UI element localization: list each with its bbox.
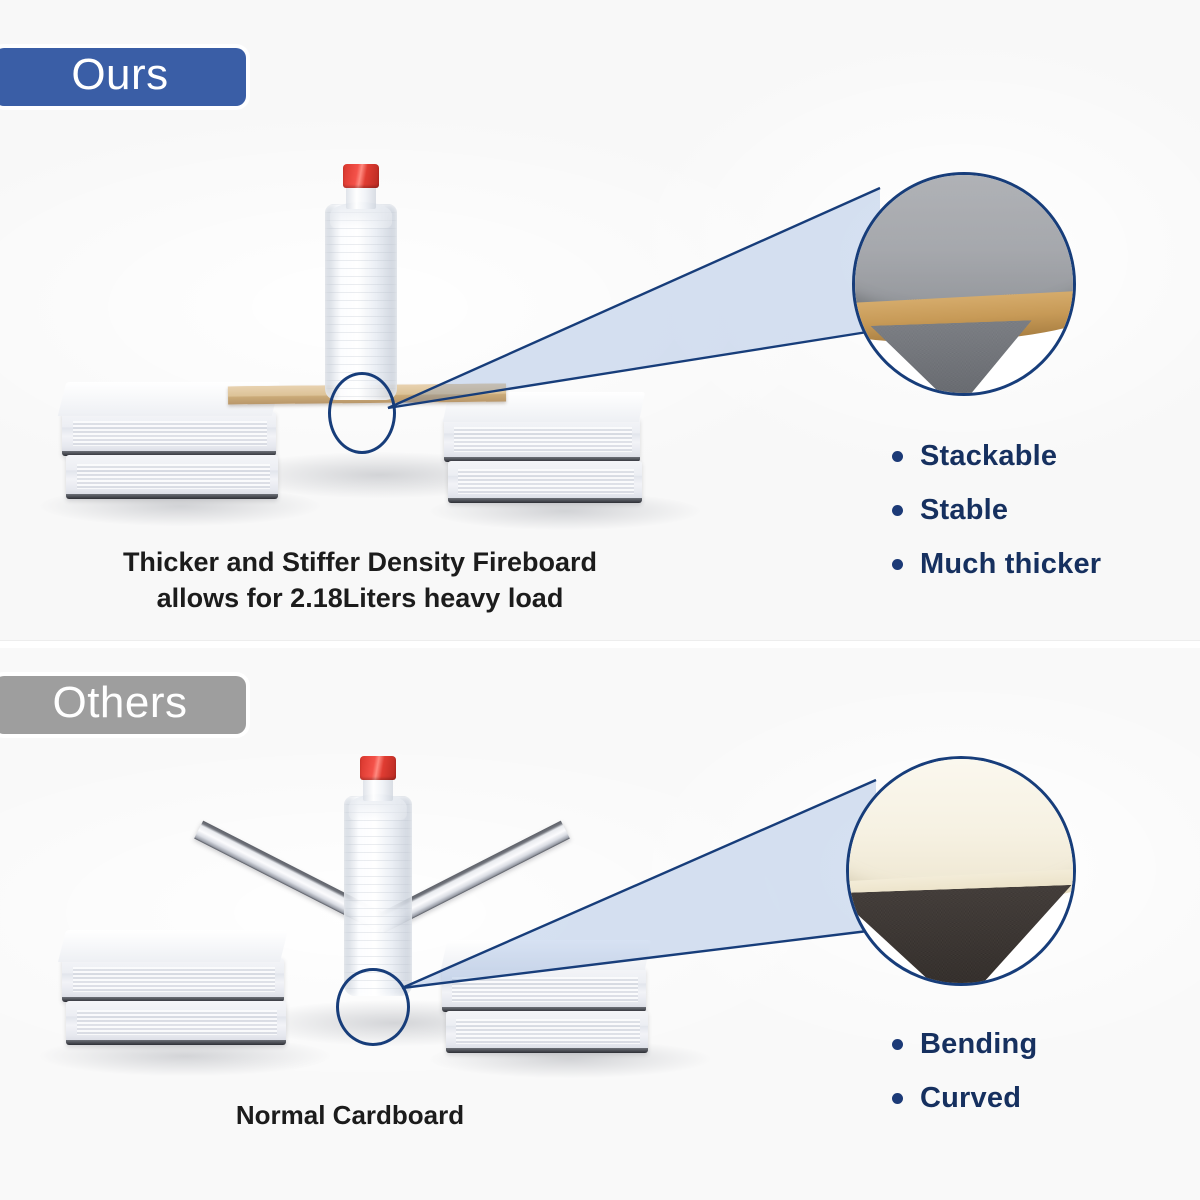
bottle-ours (325, 164, 397, 400)
feature-label-stackable: Stackable (920, 440, 1057, 473)
bottle-others (344, 756, 412, 996)
book-right-lower-others (442, 968, 646, 1012)
bullet-dot-icon (892, 505, 903, 516)
caption-ours-line1: Thicker and Stiffer Density Fireboard (60, 544, 660, 580)
feature-item-curved: Curved (892, 1082, 1037, 1115)
feature-item-bending: Bending (892, 1028, 1037, 1061)
bullet-dot-icon (892, 451, 903, 462)
caption-others: Normal Cardboard (130, 1098, 570, 1133)
bullet-dot-icon (892, 1093, 903, 1104)
book-right-lower-ours (444, 418, 640, 462)
section-ours: Ours (0, 0, 1200, 640)
infographic-canvas: Ours (0, 0, 1200, 1200)
caption-ours: Thicker and Stiffer Density Fireboard al… (60, 544, 660, 617)
book-right-topface-others (441, 940, 651, 970)
lens-inner-ours (855, 175, 1073, 393)
feature-label-bending: Bending (920, 1028, 1037, 1061)
cardboard-dark-underside (846, 885, 1075, 986)
caption-ours-line2: allows for 2.18Liters heavy load (60, 580, 660, 616)
book-left-topface-others (58, 930, 288, 962)
bottle-neck-others (363, 779, 393, 801)
feature-label-curved: Curved (920, 1082, 1021, 1115)
bottle-body-ours (325, 204, 397, 400)
badge-others: Others (0, 676, 246, 734)
feature-item-stable: Stable (892, 494, 1101, 527)
callout-ring-others (336, 968, 410, 1046)
bottle-cap-others (360, 756, 396, 780)
book-right-upper-ours (448, 461, 642, 503)
fireboard-underside (871, 320, 1035, 396)
book-left-lower-others (62, 958, 284, 1002)
book-left-upper-others (66, 1001, 286, 1045)
lens-ours (852, 172, 1076, 396)
section-others: Others (0, 648, 1200, 1200)
lens-others (846, 756, 1076, 986)
callout-ring-ours (328, 372, 396, 454)
book-left-upper-ours (66, 455, 278, 499)
badge-ours: Ours (0, 48, 246, 106)
bottle-body-others (344, 796, 412, 996)
bullet-dot-icon (892, 1039, 903, 1050)
book-right-upper-others (446, 1011, 648, 1053)
section-divider (0, 641, 1200, 648)
lens-inner-others (849, 759, 1073, 983)
caption-others-line1: Normal Cardboard (130, 1098, 570, 1133)
bottle-cap-ours (343, 164, 379, 188)
feature-item-much-thicker: Much thicker (892, 548, 1101, 581)
feature-item-stackable: Stackable (892, 440, 1101, 473)
bullet-dot-icon (892, 559, 903, 570)
bottle-neck-ours (346, 187, 376, 209)
feature-list-others: Bending Curved (892, 1028, 1037, 1136)
book-left-lower-ours (62, 412, 276, 456)
feature-list-ours: Stackable Stable Much thicker (892, 440, 1101, 602)
feature-label-much-thicker: Much thicker (920, 548, 1101, 581)
feature-label-stable: Stable (920, 494, 1008, 527)
